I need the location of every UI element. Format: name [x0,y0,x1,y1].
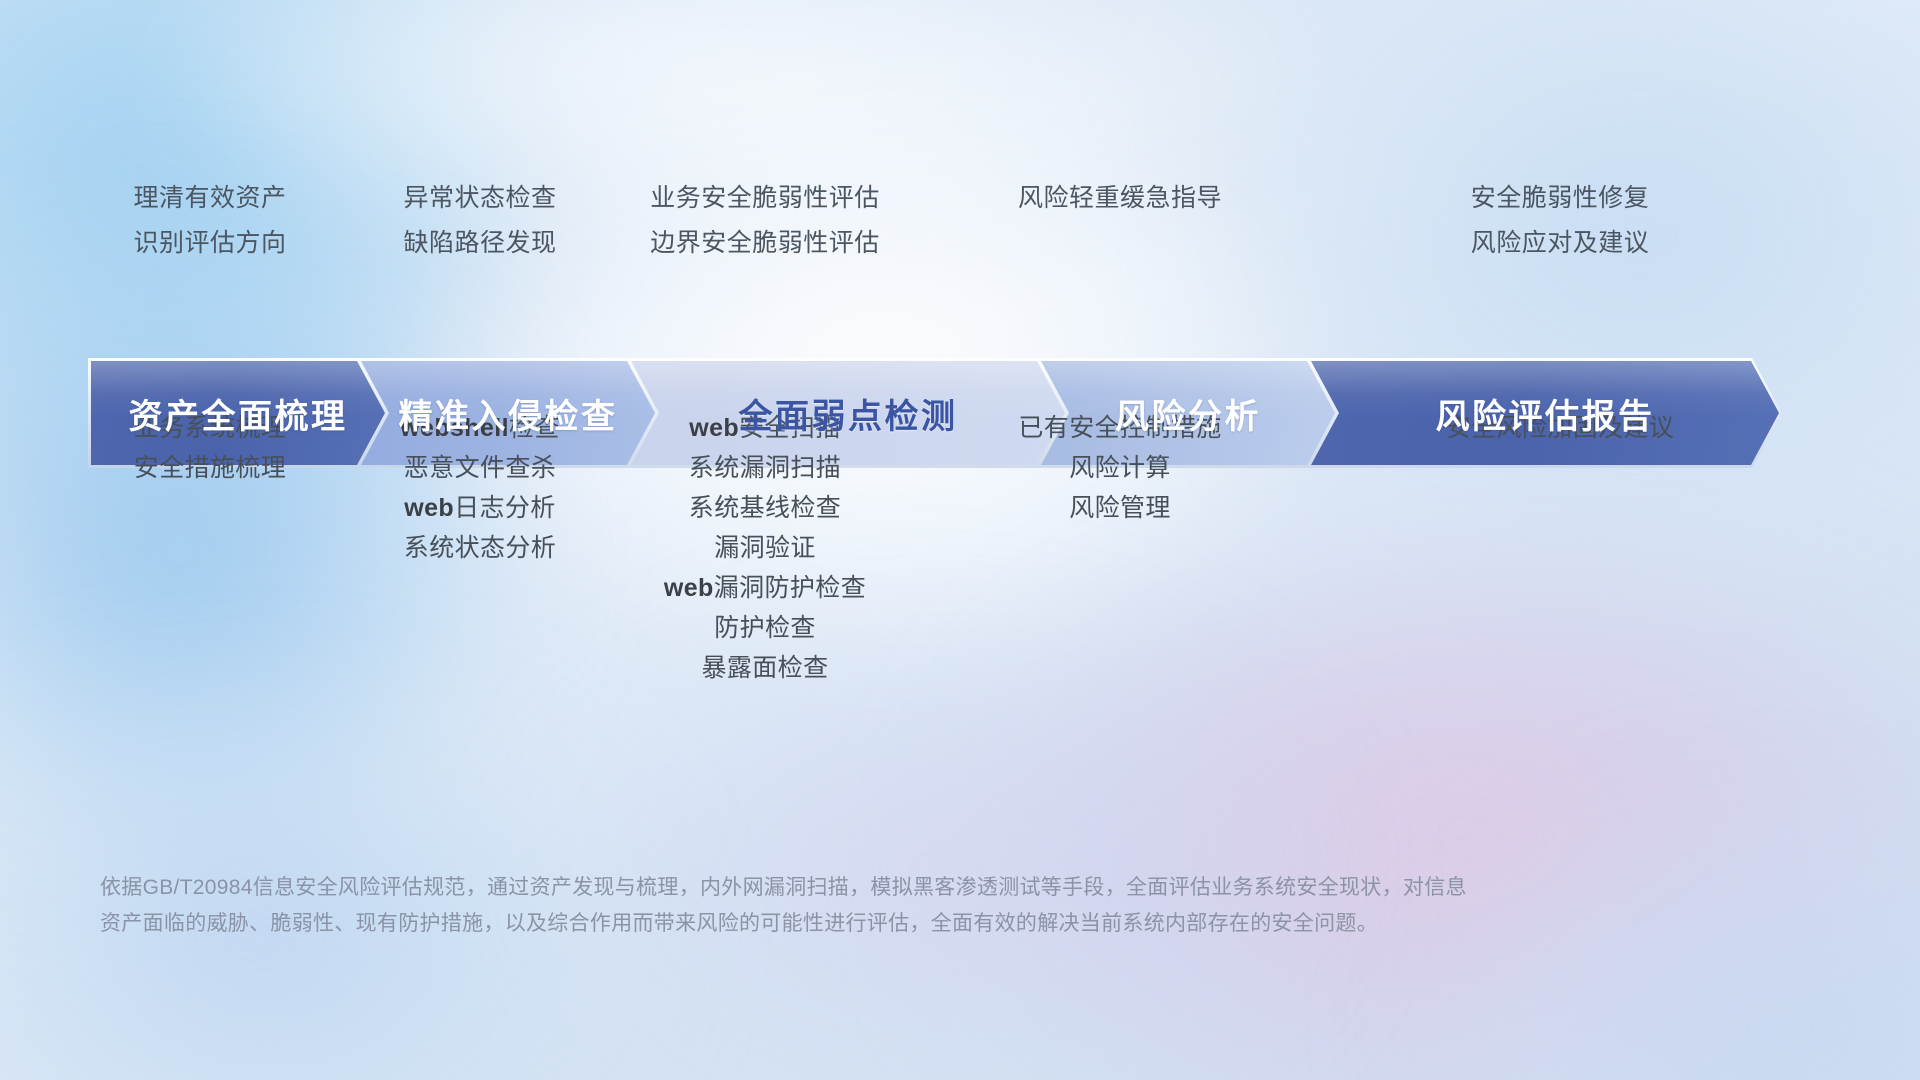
top-caption-item: 风险应对及建议 [1340,221,1780,266]
bottom-list-item: 防护检查 [620,608,910,648]
top-caption-column-risk-analysis: 风险轻重缓急指导 [900,176,1340,221]
background-blob-bottom-right [980,560,1920,1080]
bottom-list-item-text: 系统漏洞扫描 [689,454,841,482]
bottom-list-item-text: 安全措施梳理 [134,454,286,482]
top-caption-item: 异常状态检查 [330,176,630,221]
top-caption-column-intrusion-check: 异常状态检查缺陷路径发现 [330,176,630,266]
background-blob-bottom-center [560,640,1320,1080]
bottom-list-item-text: 恶意文件查杀 [404,454,556,482]
bottom-list-item: 恶意文件查杀 [330,448,630,488]
top-caption-column-risk-report: 安全脆弱性修复风险应对及建议 [1340,176,1780,266]
bottom-list-item-text: 风险计算 [1069,454,1171,482]
top-caption-item: 理清有效资产 [40,176,380,221]
bottom-list-item-text: 系统状态分析 [404,534,556,562]
bottom-list-item: 风险管理 [900,488,1340,528]
bottom-list-item-text: 防护检查 [714,614,816,642]
bottom-list-item: 系统基线检查 [620,488,910,528]
bottom-list-item-keyword: web [664,574,714,602]
slide-canvas: 理清有效资产识别评估方向异常状态检查缺陷路径发现业务安全脆弱性评估边界安全脆弱性… [0,0,1920,1080]
bottom-list-item-text: 系统基线检查 [689,494,841,522]
background-blob-corner [1430,820,1920,1080]
top-caption-item: 安全脆弱性修复 [1340,176,1780,221]
process-stage-label: 风险分析 [1115,389,1261,438]
footer-description: 依据GB/T20984信息安全风险评估规范，通过资产发现与梳理，内外网漏洞扫描，… [100,870,1660,942]
bottom-list-item: 暴露面检查 [620,648,910,688]
top-caption-column-weakness-detection: 业务安全脆弱性评估边界安全脆弱性评估 [620,176,910,266]
process-stage-label: 精准入侵检查 [399,389,618,438]
process-stage-label: 资产全面梳理 [129,389,348,438]
bottom-list-item-keyword: web [689,414,739,442]
top-caption-column-asset-inventory: 理清有效资产识别评估方向 [40,176,380,266]
process-stage-label: 风险评估报告 [1436,389,1655,438]
bottom-list-item: 漏洞验证 [620,528,910,568]
top-caption-item: 业务安全脆弱性评估 [620,176,910,221]
bottom-list-item: 系统漏洞扫描 [620,448,910,488]
bottom-list-item-text: 漏洞防护检查 [714,574,866,602]
bottom-list-item: 风险计算 [900,448,1340,488]
process-stage-label: 全面弱点检测 [739,389,958,438]
bottom-list-column-weakness-detection: web安全扫描系统漏洞扫描系统基线检查漏洞验证web漏洞防护检查防护检查暴露面检… [620,408,910,688]
bottom-list-item-text: 风险管理 [1069,494,1171,522]
bottom-list-item-text: 日志分析 [454,494,556,522]
top-caption-item: 缺陷路径发现 [330,221,630,266]
bottom-list-item-text: 暴露面检查 [701,654,828,682]
bottom-list-item: web漏洞防护检查 [620,568,910,608]
top-caption-item: 识别评估方向 [40,221,380,266]
bottom-list-item-keyword: web [404,494,454,522]
top-caption-item: 边界安全脆弱性评估 [620,221,910,266]
bottom-list-item: 系统状态分析 [330,528,630,568]
bottom-list-item-text: 漏洞验证 [714,534,816,562]
footer-line-2: 资产面临的威胁、脆弱性、现有防护措施，以及综合作用而带来风险的可能性进行评估，全… [100,906,1660,942]
top-caption-item: 风险轻重缓急指导 [900,176,1340,221]
bottom-list-item: 安全措施梳理 [40,448,380,488]
footer-line-1: 依据GB/T20984信息安全风险评估规范，通过资产发现与梳理，内外网漏洞扫描，… [100,870,1660,906]
bottom-list-item: web日志分析 [330,488,630,528]
